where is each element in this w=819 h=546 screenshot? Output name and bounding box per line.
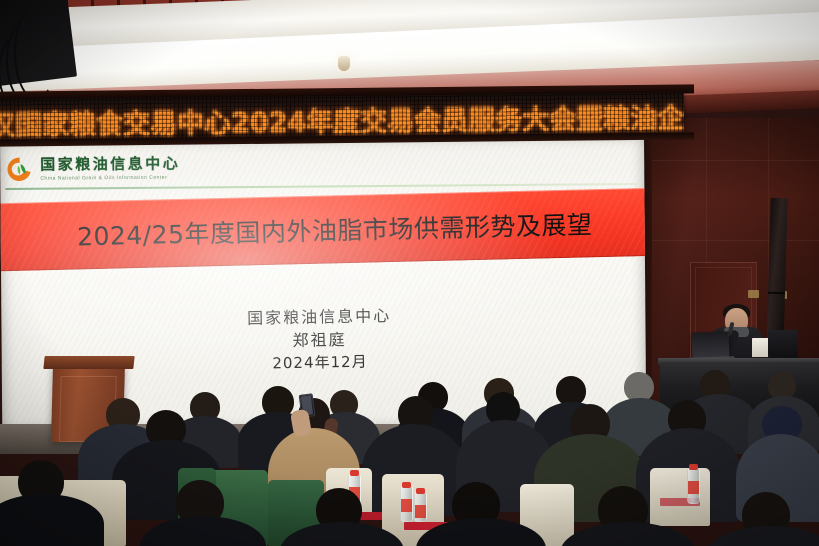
lectern-podium-top <box>43 356 134 369</box>
chair-back-cream <box>650 468 710 526</box>
laptop <box>692 331 730 358</box>
slide-logo: 国家粮油信息中心 China National Grain & Oils Inf… <box>6 155 180 183</box>
audience-area <box>0 370 819 546</box>
water-bottle <box>400 486 413 522</box>
wall-outlet-plate-1 <box>748 290 759 298</box>
slide-logo-english: China National Grain & Oils Information … <box>40 174 180 181</box>
audience-shoulders-front <box>706 526 819 546</box>
slide-logo-chinese: 国家粮油信息中心 <box>40 156 180 172</box>
conference-photo-scene: 国家粮油信息中心 China National Grain & Oils Inf… <box>0 0 819 546</box>
water-bottle <box>687 468 700 504</box>
grain-oils-center-logo-icon <box>6 156 33 183</box>
slide-logo-divider <box>5 183 637 190</box>
confidence-monitor <box>768 330 798 358</box>
water-bottle <box>414 492 427 522</box>
ceiling-downlight-pendant-1 <box>338 56 350 71</box>
